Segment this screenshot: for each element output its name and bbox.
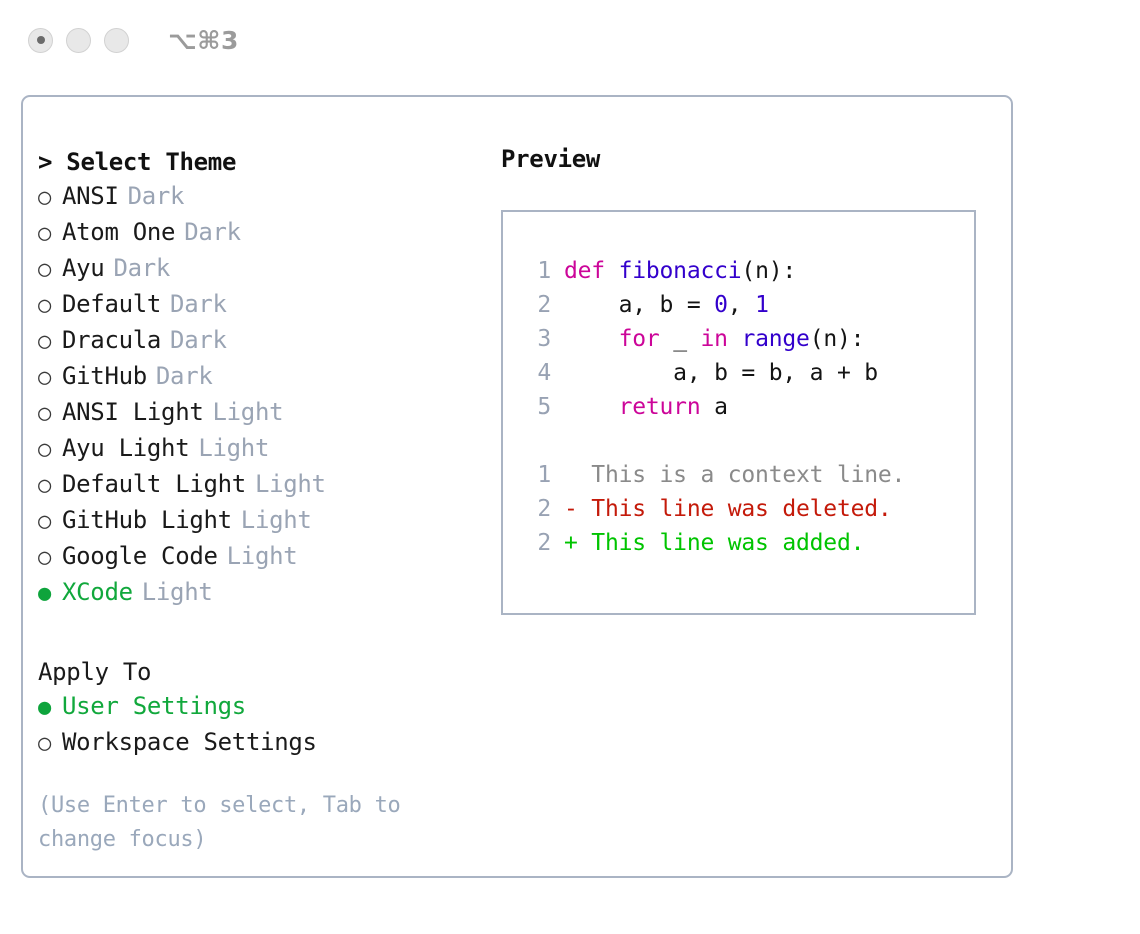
- diff-line-number: 1: [521, 458, 551, 492]
- theme-option-label: ANSI Light: [62, 395, 204, 429]
- theme-selection-column: > Select Theme ○ANSIDark○Atom OneDark○Ay…: [38, 145, 488, 857]
- theme-option-ansi-light[interactable]: ○ANSI LightLight: [38, 395, 488, 431]
- theme-variant-tag: Light: [142, 575, 213, 609]
- radio-unselected-icon: ○: [38, 253, 62, 287]
- code-line-content: for _ in range(n):: [564, 322, 864, 356]
- apply-to-option-user-settings[interactable]: ●User Settings: [38, 689, 488, 725]
- code-line-number: 1: [521, 254, 551, 288]
- code-token-pl: (n):: [741, 258, 796, 284]
- hint-spacer: [38, 761, 488, 789]
- diff-sample-block: 1 This is a context line.2- This line wa…: [521, 458, 974, 560]
- code-line-number: 4: [521, 356, 551, 390]
- apply-to-option-workspace-settings[interactable]: ○Workspace Settings: [38, 725, 488, 761]
- code-token-pl: (n):: [810, 326, 865, 352]
- code-line: 3 for _ in range(n):: [521, 322, 974, 356]
- theme-variant-tag: Light: [213, 395, 284, 429]
- code-line-number: 5: [521, 390, 551, 424]
- window-dot-active-indicator: [37, 36, 45, 44]
- diff-line: 2- This line was deleted.: [521, 492, 974, 526]
- theme-option-label: XCode: [62, 575, 133, 609]
- window-dot-second[interactable]: [66, 28, 91, 53]
- theme-variant-tag: Light: [255, 467, 326, 501]
- theme-picker-window: > Select Theme ○ANSIDark○Atom OneDark○Ay…: [21, 95, 1013, 878]
- code-line: 4 a, b = b, a + b: [521, 356, 974, 390]
- code-token-pl: [728, 326, 742, 352]
- code-token-kw: for: [619, 326, 660, 352]
- preview-heading: Preview: [501, 145, 996, 173]
- code-sample-block: 1def fibonacci(n):2 a, b = 0, 13 for _ i…: [521, 254, 974, 424]
- code-line-content: a, b = 0, 1: [564, 288, 769, 322]
- theme-option-dracula[interactable]: ○DraculaDark: [38, 323, 488, 359]
- theme-option-github-light[interactable]: ○GitHub LightLight: [38, 503, 488, 539]
- theme-option-label: Ayu: [62, 251, 104, 285]
- code-token-pl: [564, 394, 619, 420]
- code-token-pl: a: [700, 394, 727, 420]
- select-theme-heading: > Select Theme: [38, 145, 488, 179]
- code-token-pl: a, b = b, a + b: [564, 360, 878, 386]
- code-token-pl: a, b =: [564, 292, 714, 318]
- theme-option-ansi[interactable]: ○ANSIDark: [38, 179, 488, 215]
- radio-unselected-icon: ○: [38, 325, 62, 359]
- window-titlebar: ⌥⌘3: [0, 0, 1140, 80]
- preview-panel: 1def fibonacci(n):2 a, b = 0, 13 for _ i…: [501, 210, 976, 615]
- radio-unselected-icon: ○: [38, 727, 62, 761]
- radio-unselected-icon: ○: [38, 181, 62, 215]
- theme-option-label: Atom One: [62, 215, 175, 249]
- theme-variant-tag: Dark: [128, 179, 185, 213]
- window-control-dots: [28, 28, 129, 53]
- section-spacer: [38, 611, 488, 655]
- diff-line-number: 2: [521, 526, 551, 560]
- code-token-kw: in: [701, 326, 728, 352]
- radio-unselected-icon: ○: [38, 469, 62, 503]
- code-token-kw: return: [619, 394, 701, 420]
- code-diff-separator: [521, 424, 974, 458]
- code-token-num: 0: [714, 292, 728, 318]
- code-token-kw: def: [564, 258, 619, 284]
- theme-variant-tag: Dark: [156, 359, 213, 393]
- theme-option-google-code[interactable]: ○Google CodeLight: [38, 539, 488, 575]
- code-token-fn: fibonacci: [619, 258, 742, 284]
- theme-option-atom-one[interactable]: ○Atom OneDark: [38, 215, 488, 251]
- code-line: 1def fibonacci(n):: [521, 254, 974, 288]
- theme-option-label: Dracula: [62, 323, 161, 357]
- radio-selected-icon: ●: [38, 691, 62, 725]
- apply-to-option-label: User Settings: [62, 689, 246, 723]
- code-line-content: def fibonacci(n):: [564, 254, 796, 288]
- apply-to-list: ●User Settings○Workspace Settings: [38, 689, 488, 761]
- code-token-pl: _: [660, 326, 701, 352]
- radio-unselected-icon: ○: [38, 361, 62, 395]
- theme-variant-tag: Light: [241, 503, 312, 537]
- code-token-pl: [564, 326, 619, 352]
- diff-line-text-ctx: This is a context line.: [564, 458, 905, 492]
- theme-option-label: ANSI: [62, 179, 119, 213]
- code-token-pl: ,: [728, 292, 755, 318]
- theme-option-label: GitHub: [62, 359, 147, 393]
- diff-line: 1 This is a context line.: [521, 458, 974, 492]
- theme-option-ayu-light[interactable]: ○Ayu LightLight: [38, 431, 488, 467]
- window-dot-third[interactable]: [104, 28, 129, 53]
- code-line-content: return a: [564, 390, 728, 424]
- code-line-number: 3: [521, 322, 551, 356]
- theme-variant-tag: Dark: [170, 287, 227, 321]
- theme-option-label: Google Code: [62, 539, 218, 573]
- apply-to-option-label: Workspace Settings: [62, 725, 317, 759]
- theme-variant-tag: Dark: [113, 251, 170, 285]
- theme-option-github[interactable]: ○GitHubDark: [38, 359, 488, 395]
- radio-unselected-icon: ○: [38, 397, 62, 431]
- theme-variant-tag: Dark: [170, 323, 227, 357]
- theme-option-xcode[interactable]: ●XCodeLight: [38, 575, 488, 611]
- keyboard-hint-text: (Use Enter to select, Tab to change focu…: [38, 789, 448, 857]
- theme-option-label: Default Light: [62, 467, 246, 501]
- theme-option-ayu[interactable]: ○AyuDark: [38, 251, 488, 287]
- theme-option-label: Default: [62, 287, 161, 321]
- theme-option-label: GitHub Light: [62, 503, 232, 537]
- radio-unselected-icon: ○: [38, 505, 62, 539]
- code-line: 5 return a: [521, 390, 974, 424]
- radio-unselected-icon: ○: [38, 289, 62, 323]
- preview-column: Preview 1def fibonacci(n):2 a, b = 0, 13…: [501, 145, 996, 615]
- diff-line-text-add: + This line was added.: [564, 526, 864, 560]
- radio-unselected-icon: ○: [38, 217, 62, 251]
- theme-variant-tag: Light: [198, 431, 269, 465]
- radio-unselected-icon: ○: [38, 541, 62, 575]
- radio-unselected-icon: ○: [38, 433, 62, 467]
- radio-selected-icon: ●: [38, 577, 62, 611]
- theme-variant-tag: Dark: [184, 215, 241, 249]
- code-line: 2 a, b = 0, 1: [521, 288, 974, 322]
- window-dot-active[interactable]: [28, 28, 53, 53]
- window-columns: > Select Theme ○ANSIDark○Atom OneDark○Ay…: [23, 97, 1011, 876]
- apply-to-heading: Apply To: [38, 655, 488, 689]
- code-token-fn: range: [741, 326, 809, 352]
- code-token-num: 1: [755, 292, 769, 318]
- diff-line-number: 2: [521, 492, 551, 526]
- keyboard-shortcut-label: ⌥⌘3: [168, 26, 239, 55]
- code-line-content: a, b = b, a + b: [564, 356, 878, 390]
- diff-line-text-del: - This line was deleted.: [564, 492, 892, 526]
- diff-line: 2+ This line was added.: [521, 526, 974, 560]
- theme-option-default[interactable]: ○DefaultDark: [38, 287, 488, 323]
- theme-list: ○ANSIDark○Atom OneDark○AyuDark○DefaultDa…: [38, 179, 488, 611]
- code-line-number: 2: [521, 288, 551, 322]
- theme-variant-tag: Light: [227, 539, 298, 573]
- theme-option-default-light[interactable]: ○Default LightLight: [38, 467, 488, 503]
- theme-option-label: Ayu Light: [62, 431, 189, 465]
